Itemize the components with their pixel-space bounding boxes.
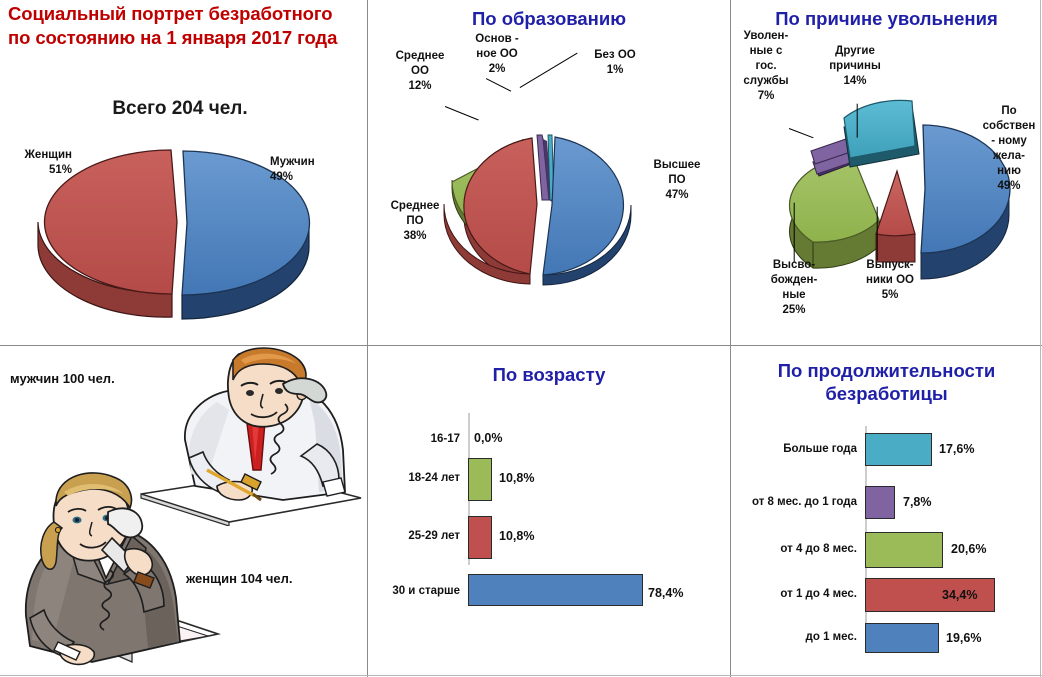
woman-on-phone-illustration — [12, 466, 227, 677]
education-label-srednee-po: Среднее ПО 38% — [376, 199, 454, 244]
total-count-subtitle: Всего 204 чел. — [0, 98, 360, 120]
age-category-25-29: 25-29 лет — [368, 530, 460, 542]
age-category-18-24: 18-24 лет — [368, 472, 460, 484]
dismissal-label-vypuskniki: Выпуск- ники ОО 5% — [850, 258, 930, 303]
duration-value-8-12-months: 7,8% — [903, 495, 932, 509]
age-bar-30-plus — [468, 574, 643, 606]
duration-bar-4-8-months — [865, 532, 943, 568]
dismissal-chart-title: По причине увольнения — [731, 8, 1042, 31]
duration-value-under-1-month: 19,6% — [946, 631, 981, 645]
dismissal-label-vysvobozhdennye: Высво- божден- ные 25% — [751, 258, 837, 318]
leader-line-vypuskniki — [876, 207, 877, 261]
duration-bar-more-than-year — [865, 433, 932, 466]
panel-people: мужчин 100 чел. женщин 104 чел. — [0, 346, 367, 677]
leader-line-vysvobozhdennye — [793, 203, 794, 263]
age-bar-25-29 — [468, 516, 492, 559]
age-value-25-29: 10,8% — [499, 529, 534, 543]
duration-category-1-4-months: от 1 до 4 мес. — [731, 588, 857, 600]
age-chart-title: По возрасту — [368, 364, 730, 387]
duration-category-under-1-month: до 1 мес. — [731, 631, 857, 643]
duration-chart-title-line1: По продолжительности — [731, 360, 1042, 383]
dismissal-label-drugie-prichiny: Другие причины 14% — [817, 44, 893, 89]
men-count-label: мужчин 100 чел. — [10, 371, 115, 386]
age-category-16-17: 16-17 — [368, 433, 460, 445]
panel-dismissal: По причине увольнения — [731, 0, 1042, 345]
duration-category-4-8-months: от 4 до 8 мес. — [731, 543, 857, 555]
duration-category-more-than-year: Больше года — [731, 443, 857, 455]
education-label-vysshee-po: Высшее ПО 47% — [642, 158, 712, 203]
duration-bar-8-12-months — [865, 486, 895, 519]
education-label-srednee-oo: Среднее ОО 12% — [384, 49, 456, 94]
duration-value-4-8-months: 20,6% — [951, 542, 986, 556]
panel-age: По возрасту 16-17 0,0% 18-24 лет 10,8% 2… — [368, 346, 730, 677]
gender-label-women: Женщин 51% — [2, 148, 72, 178]
duration-category-8-12-months: от 8 мес. до 1 года — [731, 496, 857, 508]
gender-label-men: Мужчин 49% — [270, 155, 358, 185]
duration-value-1-4-months: 34,4% — [942, 588, 977, 602]
education-chart-title: По образованию — [368, 8, 730, 31]
dismissal-label-sobstvennoe-zhelanie: По собствен - ному жела- нию 49% — [975, 104, 1042, 194]
age-category-30-plus: 30 и старше — [368, 585, 460, 597]
dismissal-label-gos-sluzhby: Уволен- ные с гос. службы 7% — [731, 29, 801, 104]
education-label-osnovnoe-oo: Основ - ное ОО 2% — [462, 32, 532, 77]
age-value-16-17: 0,0% — [474, 431, 503, 445]
panel-gender: Социальный портрет безработного по состо… — [0, 0, 367, 345]
duration-value-more-than-year: 17,6% — [939, 442, 974, 456]
leader-line-drugie-prichiny — [856, 104, 857, 138]
education-label-bez-oo: Без ОО 1% — [580, 48, 650, 78]
duration-chart-title-line2: безработицы — [731, 383, 1042, 406]
age-bar-18-24 — [468, 458, 492, 501]
infographic-page: Социальный портрет безработного по состо… — [0, 0, 1042, 677]
duration-bar-under-1-month — [865, 623, 939, 653]
age-value-18-24: 10,8% — [499, 471, 534, 485]
panel-duration: По продолжительности безработицы Больше … — [731, 346, 1042, 677]
page-title: Социальный портрет безработного по состо… — [8, 2, 338, 50]
panel-education: По образованию — [368, 0, 730, 345]
age-value-30-plus: 78,4% — [648, 586, 683, 600]
